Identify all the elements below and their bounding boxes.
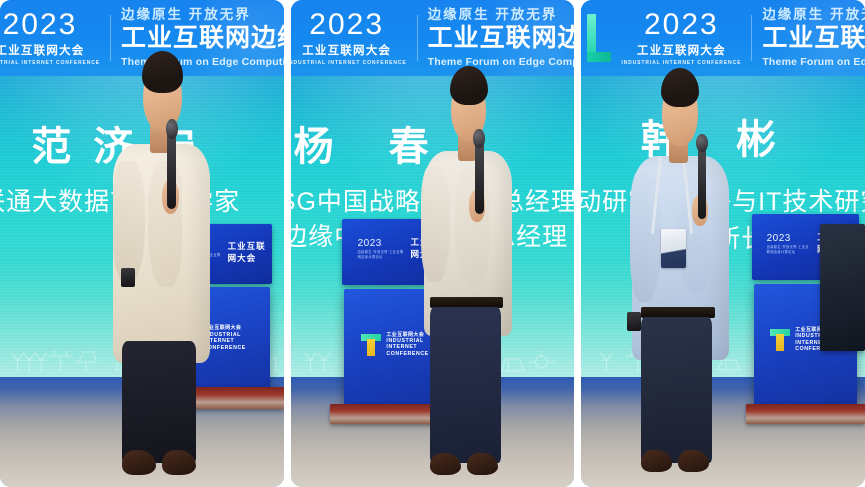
speaker-3-microphone-head <box>696 134 708 153</box>
speaker-2-left-arm <box>421 166 449 283</box>
speaker-collage-image: 2023 工业互联网大会 INDUSTRIAL INTERNET CONFERE… <box>0 0 865 487</box>
speaker-1-right-arm <box>148 161 182 288</box>
speaker-2-microphone-head <box>473 129 485 148</box>
speaker-3-shoe-left <box>641 450 672 472</box>
speaker-1-left-arm <box>113 161 144 283</box>
speaker-1-hair <box>142 51 183 92</box>
speaker-2-right-arm <box>455 166 489 288</box>
speaker-3-hair <box>661 68 699 107</box>
speaker-3-trousers <box>641 317 712 463</box>
speaker-2-microphone <box>475 141 484 214</box>
speaker-2-trousers <box>430 307 501 463</box>
speaker-1-clicker <box>121 268 135 287</box>
panel-row: 2023 工业互联网大会 INDUSTRIAL INTERNET CONFERE… <box>0 0 865 487</box>
speaker-3-clicker <box>627 312 641 331</box>
speaker-1-microphone <box>167 131 176 209</box>
speaker-1-shoe-right <box>162 450 196 474</box>
speaker-1-trousers <box>122 341 196 463</box>
speaker-3-badge <box>661 229 687 268</box>
speaker-1-microphone-head <box>166 119 178 138</box>
speaker-figure-3 <box>581 0 865 487</box>
speaker-2-shoe-left <box>430 453 461 475</box>
speaker-figure-1 <box>0 0 284 487</box>
speaker-figure-2 <box>291 0 575 487</box>
speaker-3-microphone <box>698 146 707 219</box>
speaker-3-shoe-right <box>678 450 709 472</box>
speaker-3-belt <box>641 307 715 318</box>
photo-panel-3[interactable]: 2023 工业互联网大会 INDUSTRIAL INTERNET CONFERE… <box>581 0 865 487</box>
speaker-1-shoe-left <box>122 450 156 474</box>
speaker-2-hair <box>450 66 488 105</box>
speaker-2-shoe-right <box>467 453 498 475</box>
photo-panel-1[interactable]: 2023 工业互联网大会 INDUSTRIAL INTERNET CONFERE… <box>0 0 284 487</box>
photo-panel-2[interactable]: 2023 工业互联网大会 INDUSTRIAL INTERNET CONFERE… <box>291 0 575 487</box>
